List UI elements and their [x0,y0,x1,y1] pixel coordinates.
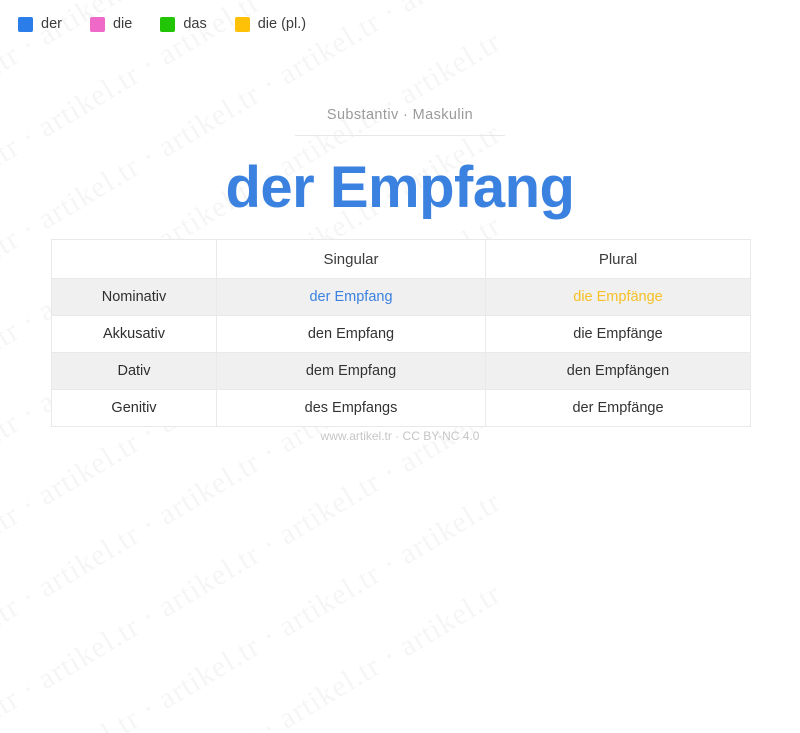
singular-value: der Empfang [217,279,486,316]
watermark-text: artikel.tr · artikel.tr · artikel.tr · a… [0,0,506,12]
case-label: Dativ [52,353,217,390]
color-swatch-icon [18,17,33,32]
singular-value: den Empfang [217,316,486,353]
table-row: Nominativ der Empfang die Empfänge [52,279,751,316]
page-title: der Empfang [0,158,800,219]
column-header-case [52,240,217,279]
table-row: Akkusativ den Empfang die Empfänge [52,316,751,353]
case-label: Akkusativ [52,316,217,353]
legend-item-label: die (pl.) [258,16,306,32]
legend-item-die: die [90,16,132,32]
plural-value: die Empfänge [486,279,751,316]
table-row: Dativ dem Empfang den Empfängen [52,353,751,390]
legend-item-der: der [18,16,62,32]
headline-block: Substantiv · Maskulin der Empfang [0,106,800,219]
column-header-singular: Singular [217,240,486,279]
word-category-subtitle: Substantiv · Maskulin [295,107,505,136]
singular-value: dem Empfang [217,353,486,390]
plural-value: den Empfängen [486,353,751,390]
declension-table: Singular Plural Nominativ der Empfang di… [51,239,751,427]
table-row: Genitiv des Empfangs der Empfänge [52,390,751,427]
watermark-text: artikel.tr · artikel.tr · artikel.tr · a… [0,395,506,733]
singular-value: des Empfangs [217,390,486,427]
color-swatch-icon [160,17,175,32]
column-header-plural: Plural [486,240,751,279]
legend-item-label: der [41,16,62,32]
legend-item-das: das [160,16,206,32]
legend-item-die-plural: die (pl.) [235,16,306,32]
footer-credit: www.artikel.tr · CC BY-NC 4.0 [0,429,800,443]
color-swatch-icon [90,17,105,32]
table-header-row: Singular Plural [52,240,751,279]
article-color-legend: der die das die (pl.) [18,16,334,32]
plural-value: der Empfänge [486,390,751,427]
case-label: Genitiv [52,390,217,427]
watermark-text: artikel.tr · artikel.tr · artikel.tr · a… [0,487,506,733]
legend-item-label: die [113,16,132,32]
color-swatch-icon [235,17,250,32]
plural-value: die Empfänge [486,316,751,353]
watermark-text: artikel.tr · artikel.tr · artikel.tr · a… [0,579,506,733]
case-label: Nominativ [52,279,217,316]
legend-item-label: das [183,16,206,32]
